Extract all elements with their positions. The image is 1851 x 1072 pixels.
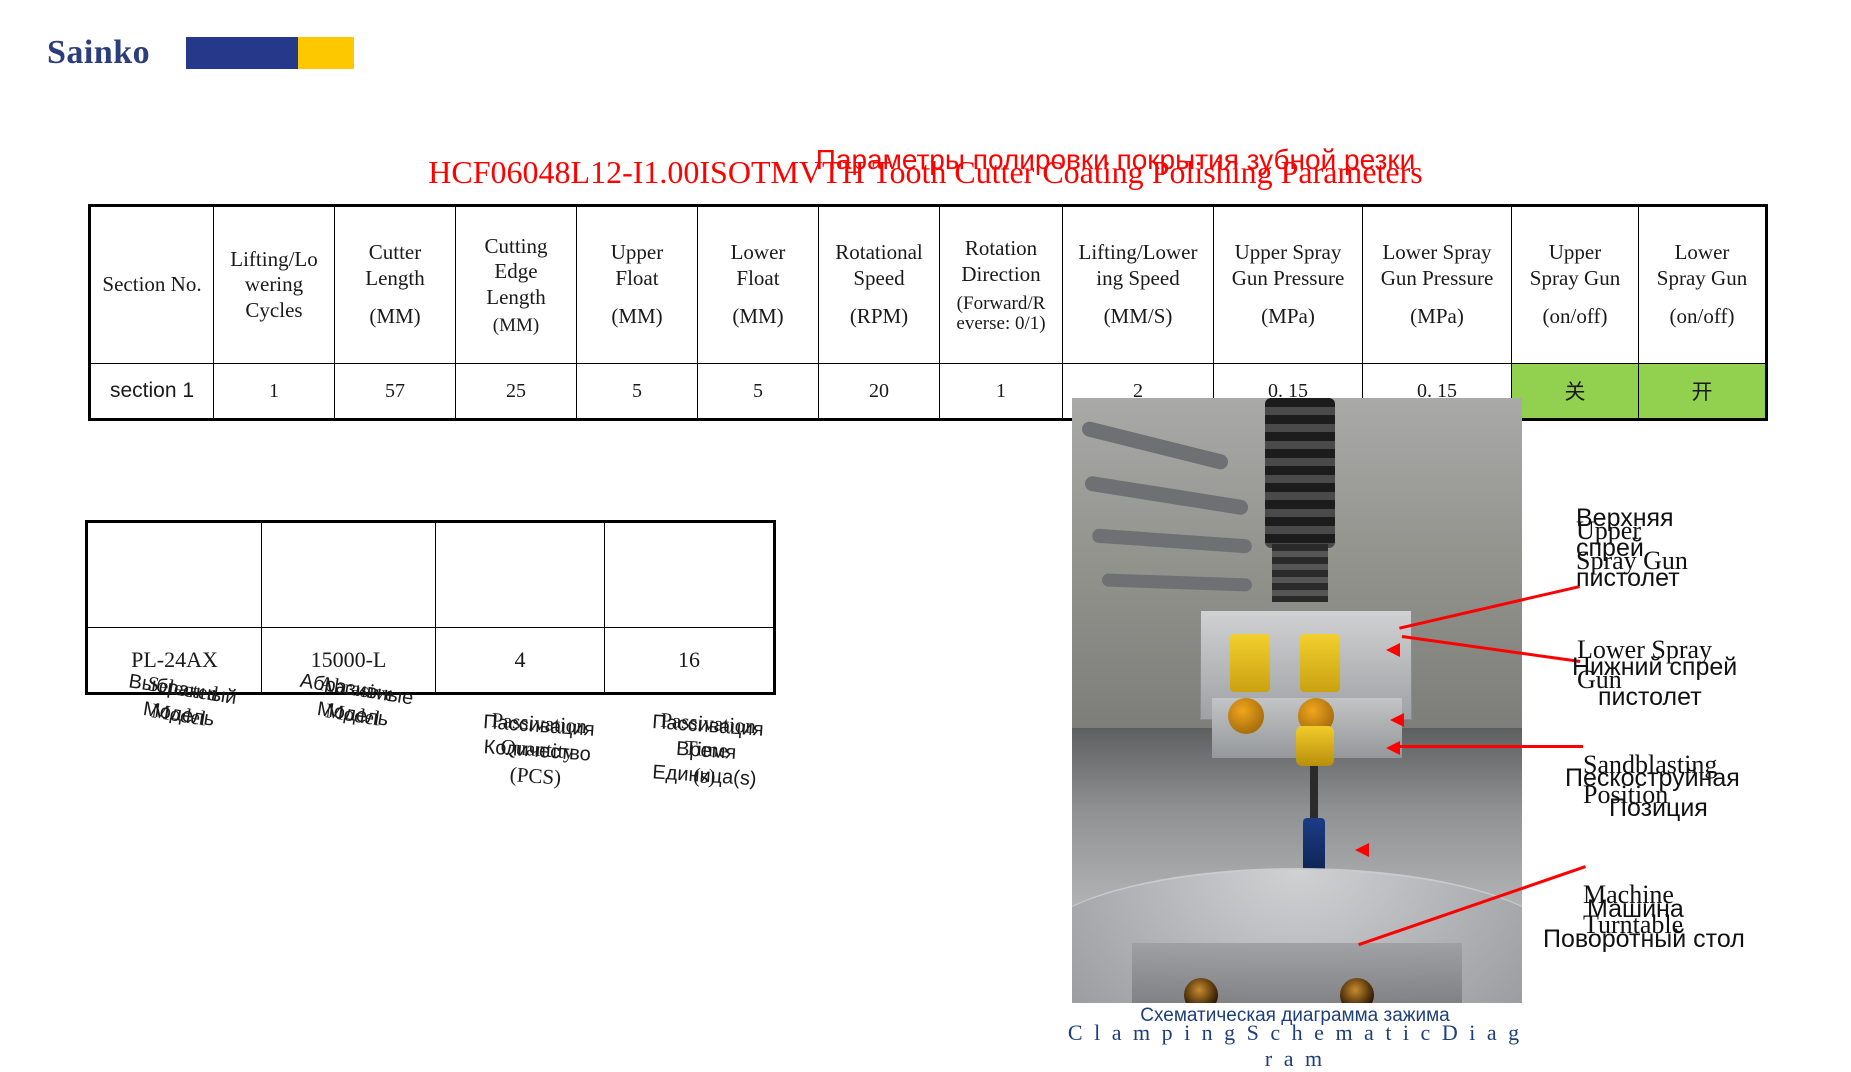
table-header-row: Section No. Lifting/LoweringCycles Cutte… [90, 206, 1767, 364]
photo-caption-english: C l a m p i n g S c h e m a t i c D i a … [1060, 1020, 1530, 1072]
callout-arrowhead-upper-spray-gun [1386, 643, 1400, 657]
header-upper-float: UpperFloat (MM) [577, 206, 698, 364]
abrasive-passivation-table: Selected Model Выбранный Модель Abrasive… [85, 520, 776, 695]
header-cutting-edge-length: CuttingEdgeLength (MM) [456, 206, 577, 364]
header-lower-spray-gun-pressure: Lower SprayGun Pressure (MPa) [1363, 206, 1512, 364]
brand-bar-blue [186, 37, 298, 69]
page-title: HCF06048L12-I1.00ISOTMVTH Tooth Cutter C… [0, 152, 1851, 192]
cell-rotational-speed: 20 [819, 364, 940, 420]
cell-passivation-time: 16 [605, 628, 775, 694]
header-rotation-direction: RotationDirection (Forward/Reverse: 0/1) [940, 206, 1063, 364]
header-lower-spray-gun: LowerSpray Gun (on/off) [1639, 206, 1767, 364]
header-passivation-quantity: Passivation Quantity (PCS) Пассивация Ко… [436, 522, 605, 628]
callout-upper-spray-gun: Upper Spray Gun Верхняя спрей пистолет [1576, 503, 1851, 573]
coating-polishing-parameters-table: Section No. Lifting/LoweringCycles Cutte… [88, 204, 1768, 421]
header-lifting-lowering-cycles: Lifting/LoweringCycles [214, 206, 335, 364]
callout-sandblasting-position: Sandblasting Position Пескоструйная Пози… [1583, 750, 1851, 820]
header-cutter-length: CutterLength (MM) [335, 206, 456, 364]
cell-cycles: 1 [214, 364, 335, 420]
cell-lower-gun-state: 开 [1639, 364, 1767, 420]
cell-cutting-edge-length: 25 [456, 364, 577, 420]
cell-section-no: section 1 [90, 364, 214, 420]
callout-machine-turntable: Machine Turntable Машина Поворотный стол [1583, 880, 1851, 950]
header-abrasive-model: Abrasive Model Абразивные Модель [262, 522, 436, 628]
callout-arrowhead-lower-spray-gun [1390, 713, 1404, 727]
header-rotational-speed: RotationalSpeed (RPM) [819, 206, 940, 364]
header-upper-spray-gun-pressure: Upper SprayGun Pressure (MPa) [1214, 206, 1363, 364]
header-lower-float: LowerFloat (MM) [698, 206, 819, 364]
upper-spray-nozzle [1230, 634, 1270, 692]
brand-bar-yellow [298, 37, 354, 69]
lower-spray-nozzle [1228, 698, 1264, 734]
header-selected-model: Selected Model Выбранный Модель [87, 522, 262, 628]
brand-name: Sainko [47, 34, 150, 72]
bellow-cover-lower [1272, 544, 1328, 602]
cell-cutter-length: 57 [335, 364, 456, 420]
bellow-cover [1265, 398, 1335, 548]
brand-logo: Sainko [47, 34, 354, 72]
table-header-row: Selected Model Выбранный Модель Abrasive… [87, 522, 775, 628]
header-lifting-lowering-speed: Lifting/Lowering Speed (MM/S) [1063, 206, 1214, 364]
cell-passivation-quantity: 4 [436, 628, 605, 694]
callout-arrow-sandblasting-position [1393, 745, 1583, 748]
callout-lower-spray-gun: Lower Spray Gun Нижний спрей пистолет [1577, 635, 1851, 705]
cell-upper-gun-state: 关 [1512, 364, 1639, 420]
cutter-tool [1310, 766, 1318, 824]
upper-spray-nozzle [1300, 634, 1340, 692]
photo-caption: Схематическая диаграмма зажима C l a m p… [1060, 1020, 1530, 1056]
cell-rotation-direction: 1 [940, 364, 1063, 420]
header-passivation-time: Passivation Time (s) Пассивация Время Ед… [605, 522, 775, 628]
lower-spray-nozzle-yellow [1296, 726, 1334, 766]
page-title-russian: Параметры полировки покрытия зубной резк… [190, 144, 1851, 176]
header-section-no: Section No. [90, 206, 214, 364]
cell-lower-float: 5 [698, 364, 819, 420]
header-upper-spray-gun: UpperSpray Gun (on/off) [1512, 206, 1639, 364]
callout-arrowhead-machine-turntable [1355, 843, 1369, 857]
cell-upper-float: 5 [577, 364, 698, 420]
turntable-plate [1132, 943, 1462, 1003]
brand-color-bars [186, 37, 354, 69]
callout-arrowhead-sandblasting-position [1386, 741, 1400, 755]
